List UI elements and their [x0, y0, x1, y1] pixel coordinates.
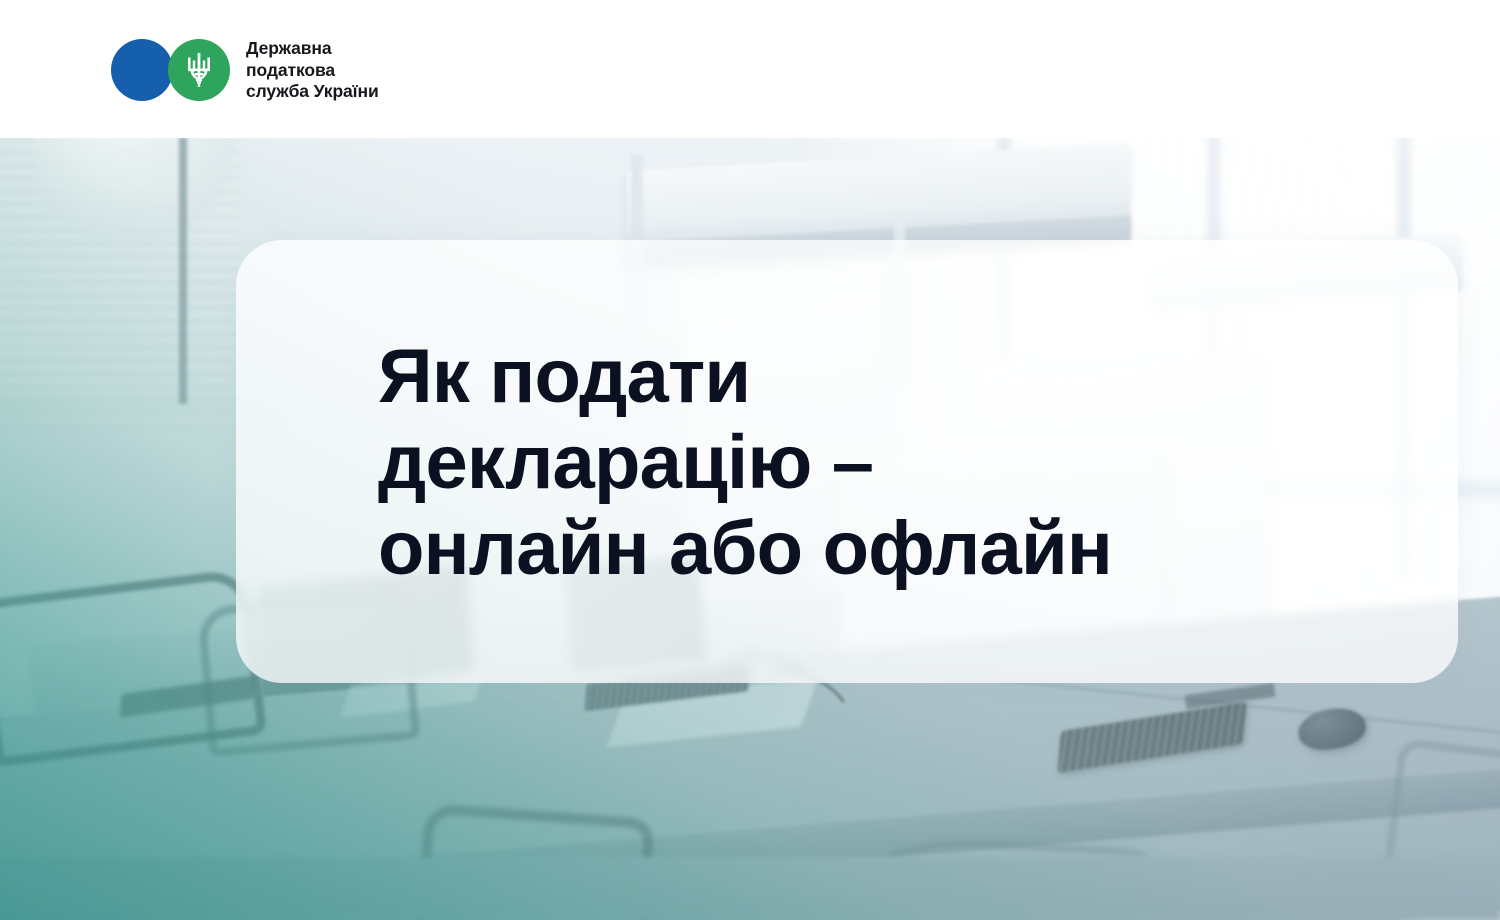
photo-pendant-rod: [179, 138, 187, 404]
logo-line-1: Державна: [246, 38, 332, 58]
page-title: Як подати декларацію – онлайн або офлайн: [378, 334, 1378, 592]
ukraine-trident-icon: [185, 51, 213, 89]
header-band: Державнаподатковаслужба України: [0, 0, 1500, 138]
organization-logo[interactable]: Державнаподатковаслужба України: [111, 38, 379, 103]
logo-circles: [111, 39, 230, 101]
blue-circle-icon: [111, 39, 173, 101]
hero-section: Як подати декларацію – онлайн або офлайн: [0, 138, 1500, 920]
slide-root: Як подати декларацію – онлайн або офлайн: [0, 0, 1500, 920]
logo-line-2: податкова: [246, 60, 335, 80]
photo-floor: [0, 857, 1500, 920]
logo-line-3: служба України: [246, 81, 379, 101]
organization-name: Державнаподатковаслужба України: [246, 38, 379, 103]
green-circle-icon: [168, 39, 230, 101]
